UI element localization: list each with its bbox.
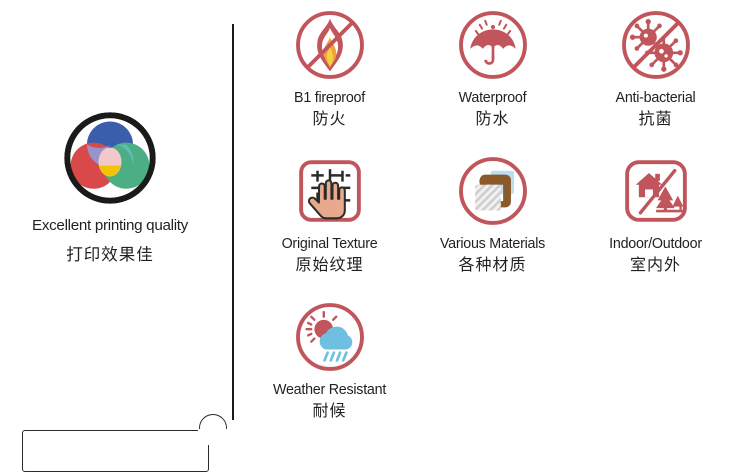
- feature-label-en: Indoor/Outdoor: [609, 236, 702, 252]
- various-materials-layers-icon: [454, 152, 532, 230]
- feature-label-en: Original Texture: [282, 236, 378, 252]
- feature-label-cn: 各种材质: [458, 257, 526, 275]
- feature-highlights-page: Excellent printing quality 打印效果佳 B1 fire…: [0, 0, 737, 447]
- brand-panel: Excellent printing quality 打印效果佳: [0, 0, 232, 447]
- feature-label-en: B1 fireproof: [294, 90, 365, 106]
- feature-item: Weather Resistant 耐候: [250, 298, 410, 444]
- feature-label-cn: 抗菌: [638, 111, 672, 129]
- feature-label-cn: 防水: [475, 111, 509, 129]
- anti-bacterial-germ-icon: [617, 6, 695, 84]
- feature-label-en: Weather Resistant: [273, 382, 386, 398]
- weather-resistant-sun-cloud-rain-icon: [291, 298, 369, 376]
- feature-label-cn: 耐候: [312, 403, 346, 421]
- brand-title-en: Excellent printing quality: [0, 217, 220, 234]
- feature-item: Indoor/Outdoor 室内外: [576, 152, 736, 298]
- feature-label-en: Anti-bacterial: [616, 90, 696, 106]
- feature-item: Waterproof 防水: [413, 6, 573, 152]
- indoor-outdoor-house-tree-icon: [617, 152, 695, 230]
- feature-label-en: Various Materials: [440, 236, 545, 252]
- feature-label-en: Waterproof: [459, 90, 527, 106]
- feature-label-cn: 室内外: [630, 257, 681, 275]
- feature-item: Original Texture 原始纹理: [250, 152, 410, 298]
- card-rounded-tab: [199, 414, 227, 442]
- waterproof-umbrella-icon: [454, 6, 532, 84]
- feature-label-cn: 防火: [312, 111, 346, 129]
- fireproof-icon: [291, 6, 369, 84]
- feature-item: Anti-bacterial 抗菌: [576, 6, 736, 152]
- printing-quality-block: Excellent printing quality 打印效果佳: [0, 110, 220, 265]
- feature-item: B1 fireproof 防火: [250, 6, 410, 152]
- feature-grid: B1 fireproof 防火: [248, 6, 737, 447]
- cmyk-color-wheel-icon: [62, 110, 158, 206]
- vertical-divider: [232, 24, 234, 420]
- original-texture-hand-icon: [291, 152, 369, 230]
- cut-off-card-shape: [22, 430, 209, 472]
- brand-title-cn: 打印效果佳: [0, 241, 220, 265]
- feature-label-cn: 原始纹理: [295, 257, 363, 275]
- feature-item: Various Materials 各种材质: [413, 152, 573, 298]
